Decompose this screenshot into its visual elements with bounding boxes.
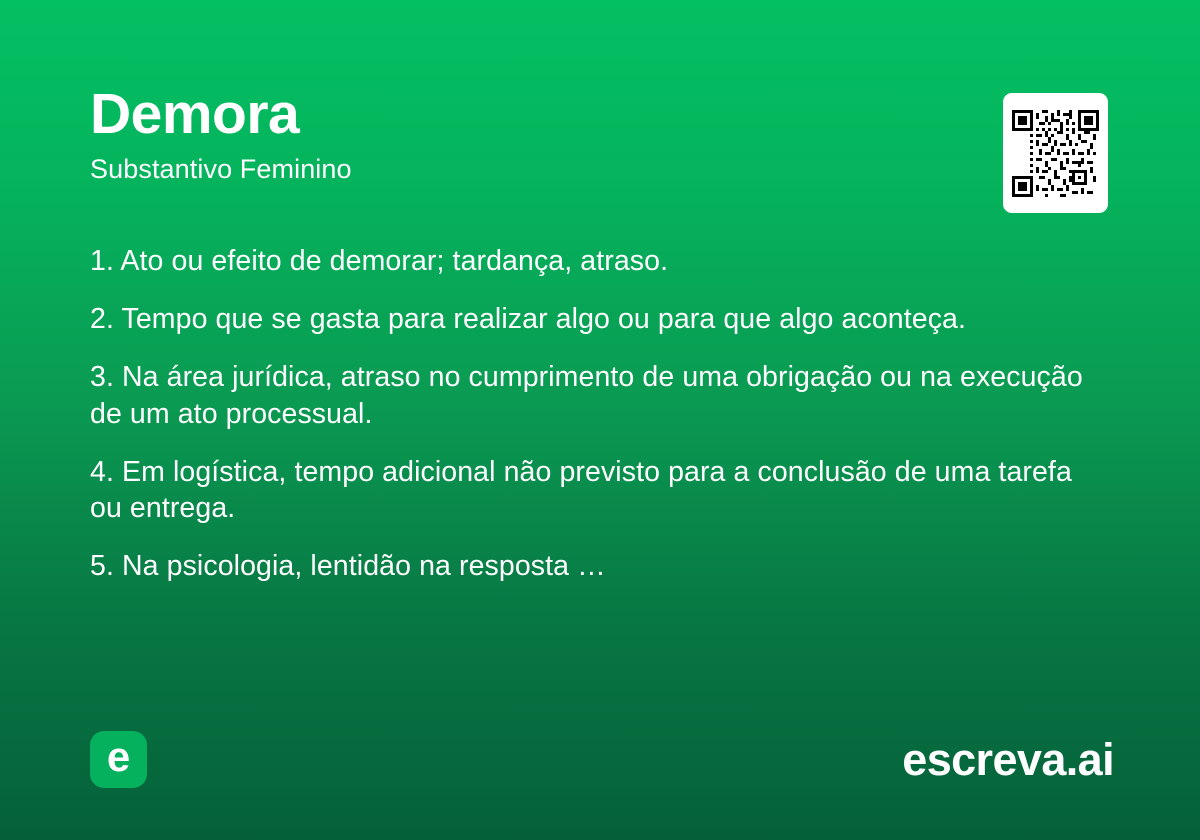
definition-list: 1. Ato ou efeito de demorar; tardança, a… [90, 243, 1110, 584]
escreva-logo-icon[interactable]: e [90, 731, 147, 788]
definition-item: 5. Na psicologia, lentidão na resposta … [90, 548, 1110, 584]
card-footer: e escreva.ai [90, 730, 1114, 788]
card-header: Demora Substantivo Feminino [90, 86, 1110, 185]
definition-item: 3. Na área jurídica, atraso no cumprimen… [90, 359, 1110, 431]
definition-item: 4. Em logística, tempo adicional não pre… [90, 454, 1110, 526]
word-definition-card: Demora Substantivo Feminino [0, 0, 1200, 840]
brand-wordmark: escreva.ai [902, 737, 1114, 782]
qr-code-container[interactable] [1003, 93, 1108, 213]
word-class-label: Substantivo Feminino [90, 155, 1110, 185]
definition-item: 2. Tempo que se gasta para realizar algo… [90, 301, 1110, 337]
logo-letter: e [107, 736, 130, 778]
definition-item: 1. Ato ou efeito de demorar; tardança, a… [90, 243, 1110, 279]
qr-code-icon [1012, 110, 1099, 197]
page-title: Demora [90, 86, 1110, 143]
